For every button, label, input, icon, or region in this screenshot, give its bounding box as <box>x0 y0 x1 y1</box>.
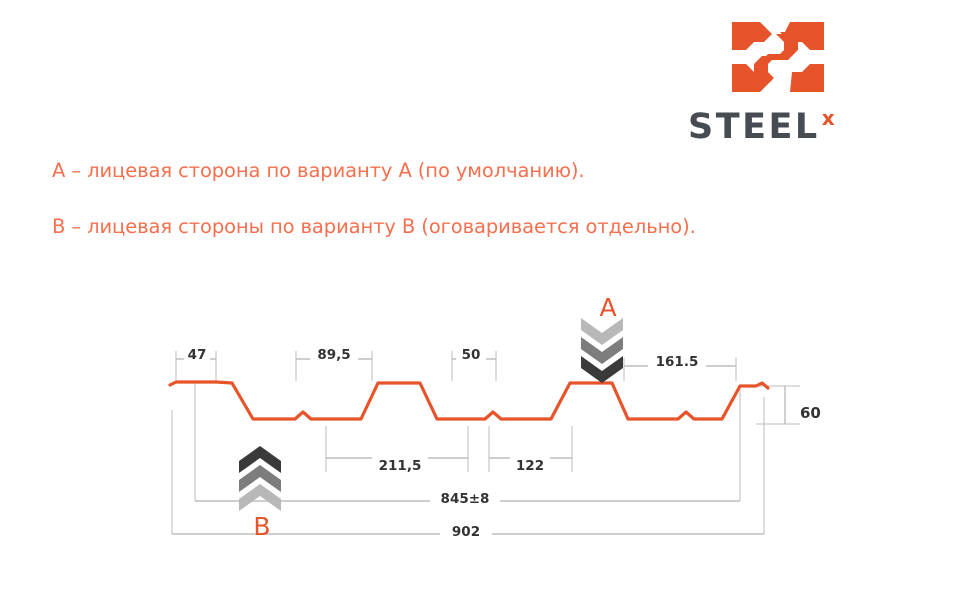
dim-122-label: 122 <box>516 458 544 474</box>
technical-drawing-page: STEEL x А – лицевая сторона по варианту … <box>0 0 970 597</box>
dim-89-5-label: 89,5 <box>317 347 350 363</box>
marker-a-label: A <box>588 293 628 322</box>
profile-technical-drawing: 47 89,5 50 161.5 211,5 122 845±8 902 60 <box>0 0 970 597</box>
marker-b-label: B <box>242 512 282 541</box>
dim-902-label: 902 <box>452 524 480 540</box>
dim-161-5-label: 161.5 <box>656 354 699 370</box>
dim-60-label: 60 <box>800 404 821 422</box>
marker-a-chevrons <box>581 318 623 383</box>
dimension-labels: 47 89,5 50 161.5 211,5 122 845±8 902 60 <box>188 347 821 540</box>
dim-845-label: 845±8 <box>441 491 490 507</box>
dim-50-label: 50 <box>462 347 481 363</box>
sheet-profile-outline <box>170 382 768 419</box>
dim-211-5-label: 211,5 <box>379 458 422 474</box>
dim-47-label: 47 <box>188 347 207 363</box>
